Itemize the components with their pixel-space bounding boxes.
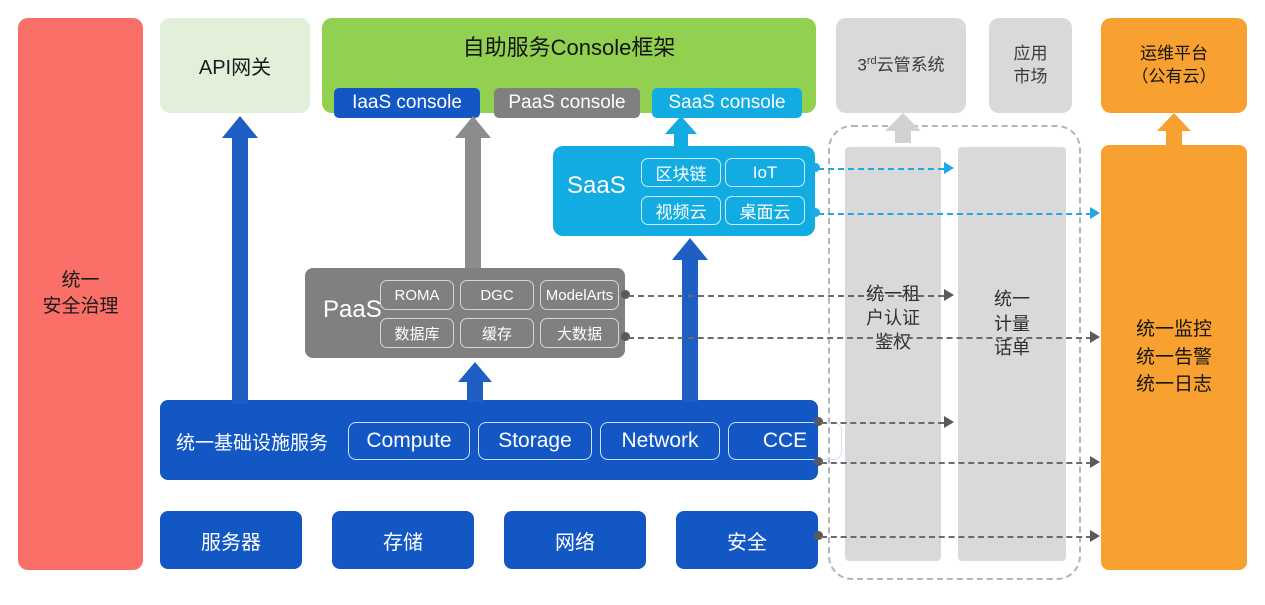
saas-label: SaaS bbox=[567, 172, 626, 200]
tenant-auth-label: 统一租 户认证 鉴权 bbox=[845, 280, 941, 356]
arrowhead-saas-to-tenant-auth bbox=[944, 162, 954, 174]
unified-ops-line1: 统一监控 bbox=[1136, 316, 1212, 344]
arrowhead-saas-to-ops-panel bbox=[1090, 207, 1100, 219]
security-governance-panel: 统一 安全治理 bbox=[18, 18, 143, 570]
unified-ops-line2: 统一告警 bbox=[1136, 344, 1212, 372]
arrow-shared-to-third-party bbox=[885, 113, 921, 143]
saas-console-label: SaaS console bbox=[668, 92, 785, 114]
security-governance-line2: 安全治理 bbox=[42, 294, 118, 320]
arrow-infra-to-api-gateway bbox=[222, 116, 258, 404]
arrowhead-infra-to-tenant-auth bbox=[944, 416, 954, 428]
arrowhead-hardware-to-ops-panel bbox=[1090, 530, 1100, 542]
api-gateway-box: API网关 bbox=[160, 18, 310, 113]
arrow-infra-to-paas bbox=[458, 362, 492, 402]
unified-ops-line3: 统一日志 bbox=[1136, 371, 1212, 399]
api-gateway-label: API网关 bbox=[199, 51, 271, 80]
arrow-saas-to-saas-console bbox=[665, 116, 697, 148]
saas-chip-desktop-cloud[interactable]: 桌面云 bbox=[725, 196, 805, 225]
arrowhead-paas-to-tenant-auth bbox=[944, 289, 954, 301]
unified-infrastructure-bar: 统一基础设施服务 Compute Storage Network CCE bbox=[160, 400, 818, 480]
paas-chip-modelarts[interactable]: ModelArts bbox=[540, 280, 619, 310]
app-market-line2: 市场 bbox=[1014, 66, 1048, 88]
saas-chip-blockchain[interactable]: 区块链 bbox=[641, 158, 721, 187]
hardware-box-security: 安全 bbox=[676, 511, 818, 569]
ops-platform-box: 运维平台 （公有云） bbox=[1101, 18, 1247, 113]
connector-paas-to-ops-panel bbox=[628, 337, 1092, 339]
paas-label: PaaS bbox=[323, 296, 382, 324]
paas-console-chip[interactable]: PaaS console bbox=[494, 88, 640, 118]
arrowhead-infra-to-ops-panel bbox=[1090, 456, 1100, 468]
iaas-console-chip[interactable]: IaaS console bbox=[334, 88, 480, 118]
arrow-ops-panel-to-ops-platform bbox=[1157, 113, 1191, 147]
metering-label: 统一 计量 话单 bbox=[958, 284, 1066, 364]
saas-panel: SaaS 区块链 IoT 视频云 桌面云 bbox=[553, 146, 815, 236]
hardware-box-network: 网络 bbox=[504, 511, 646, 569]
hardware-box-server: 服务器 bbox=[160, 511, 302, 569]
iaas-console-label: IaaS console bbox=[352, 92, 462, 114]
paas-panel: PaaS ROMA DGC ModelArts 数据库 缓存 大数据 bbox=[305, 268, 625, 358]
app-market-line1: 应用 bbox=[1014, 43, 1048, 65]
saas-chip-iot[interactable]: IoT bbox=[725, 158, 805, 187]
console-framework-panel: 自助服务Console框架 IaaS console PaaS console … bbox=[322, 18, 816, 113]
paas-chip-roma[interactable]: ROMA bbox=[380, 280, 454, 310]
console-framework-title: 自助服务Console框架 bbox=[322, 30, 816, 62]
app-market-box: 应用 市场 bbox=[989, 18, 1072, 113]
saas-chip-video-cloud[interactable]: 视频云 bbox=[641, 196, 721, 225]
infra-chip-storage[interactable]: Storage bbox=[478, 422, 592, 460]
arrowhead-paas-to-ops-panel bbox=[1090, 331, 1100, 343]
connector-infra-to-ops-panel bbox=[821, 462, 1092, 464]
ops-platform-line2: （公有云） bbox=[1132, 66, 1217, 89]
architecture-diagram: 统一 安全治理 API网关 自助服务Console框架 IaaS console… bbox=[0, 0, 1265, 605]
connector-infra-to-tenant-auth bbox=[821, 422, 944, 424]
infra-chip-cce[interactable]: CCE bbox=[728, 422, 842, 460]
arrow-paas-to-console bbox=[455, 116, 491, 268]
connector-paas-to-tenant-auth bbox=[628, 295, 944, 297]
security-governance-line1: 统一 bbox=[42, 268, 118, 294]
hardware-box-storage: 存储 bbox=[332, 511, 474, 569]
saas-console-chip[interactable]: SaaS console bbox=[652, 88, 802, 118]
infra-chip-network[interactable]: Network bbox=[600, 422, 720, 460]
paas-console-label: PaaS console bbox=[508, 92, 625, 114]
arrow-infra-to-saas bbox=[672, 238, 708, 402]
unified-ops-panel: 统一监控 统一告警 统一日志 bbox=[1101, 145, 1247, 570]
third-party-cloud-mgmt-box: 3rd云管系统 bbox=[836, 18, 966, 113]
infra-chip-compute[interactable]: Compute bbox=[348, 422, 470, 460]
paas-chip-dgc[interactable]: DGC bbox=[460, 280, 534, 310]
unified-infrastructure-label: 统一基础设施服务 bbox=[176, 428, 328, 455]
paas-chip-database[interactable]: 数据库 bbox=[380, 318, 454, 348]
connector-hardware-to-ops-panel bbox=[821, 536, 1092, 538]
connector-saas-to-ops-panel bbox=[818, 213, 1092, 215]
ops-platform-line1: 运维平台 bbox=[1132, 43, 1217, 66]
paas-chip-cache[interactable]: 缓存 bbox=[460, 318, 534, 348]
connector-saas-to-tenant-auth bbox=[818, 168, 944, 170]
third-party-label: 3rd云管系统 bbox=[857, 54, 944, 77]
paas-chip-bigdata[interactable]: 大数据 bbox=[540, 318, 619, 348]
